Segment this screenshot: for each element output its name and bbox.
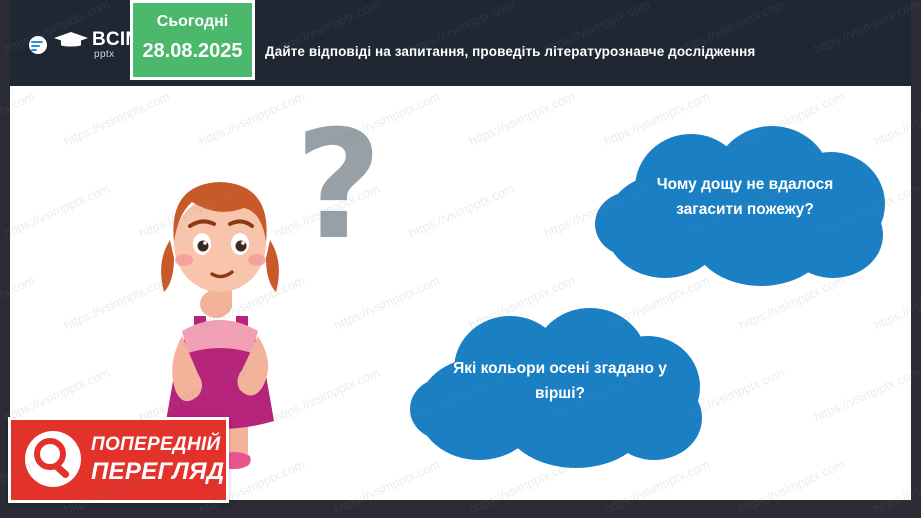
question-bubble-1-text: Чому дощу не вдалося загасити пожежу? (625, 172, 865, 222)
brand-logo: BCIM pptx (24, 28, 144, 66)
preview-stamp-line1: ПОПЕРЕДНІЙ (91, 434, 221, 456)
slide-header: BCIM pptx Сьогодні 28.08.2025 Дайте відп… (10, 0, 911, 86)
question-bubble-2: Які кольори осені згадано у вірші? (410, 306, 710, 471)
logo-subtext: pptx (94, 49, 115, 60)
today-label: Сьогодні (133, 13, 252, 31)
preview-stamp: ПОПЕРЕДНІЙ ПЕРЕГЛЯД (8, 417, 229, 503)
question-bubble-1: Чому дощу не вдалося загасити пожежу? (595, 126, 895, 286)
graduation-cap-icon (54, 32, 88, 48)
right-edge-bar (911, 0, 921, 518)
logo-speed-lines-icon (31, 41, 43, 53)
slide-title: Дайте відповіді на запитання, проведіть … (265, 44, 905, 59)
magnifier-icon (31, 437, 77, 483)
preview-stamp-line2: ПЕРЕГЛЯД (91, 458, 224, 486)
question-bubble-2-text: Які кольори осені згадано у вірші? (442, 356, 678, 406)
today-date: 28.08.2025 (133, 40, 252, 63)
today-date-badge: Сьогодні 28.08.2025 (130, 0, 255, 80)
slide-root: BCIM pptx Сьогодні 28.08.2025 Дайте відп… (0, 0, 921, 518)
